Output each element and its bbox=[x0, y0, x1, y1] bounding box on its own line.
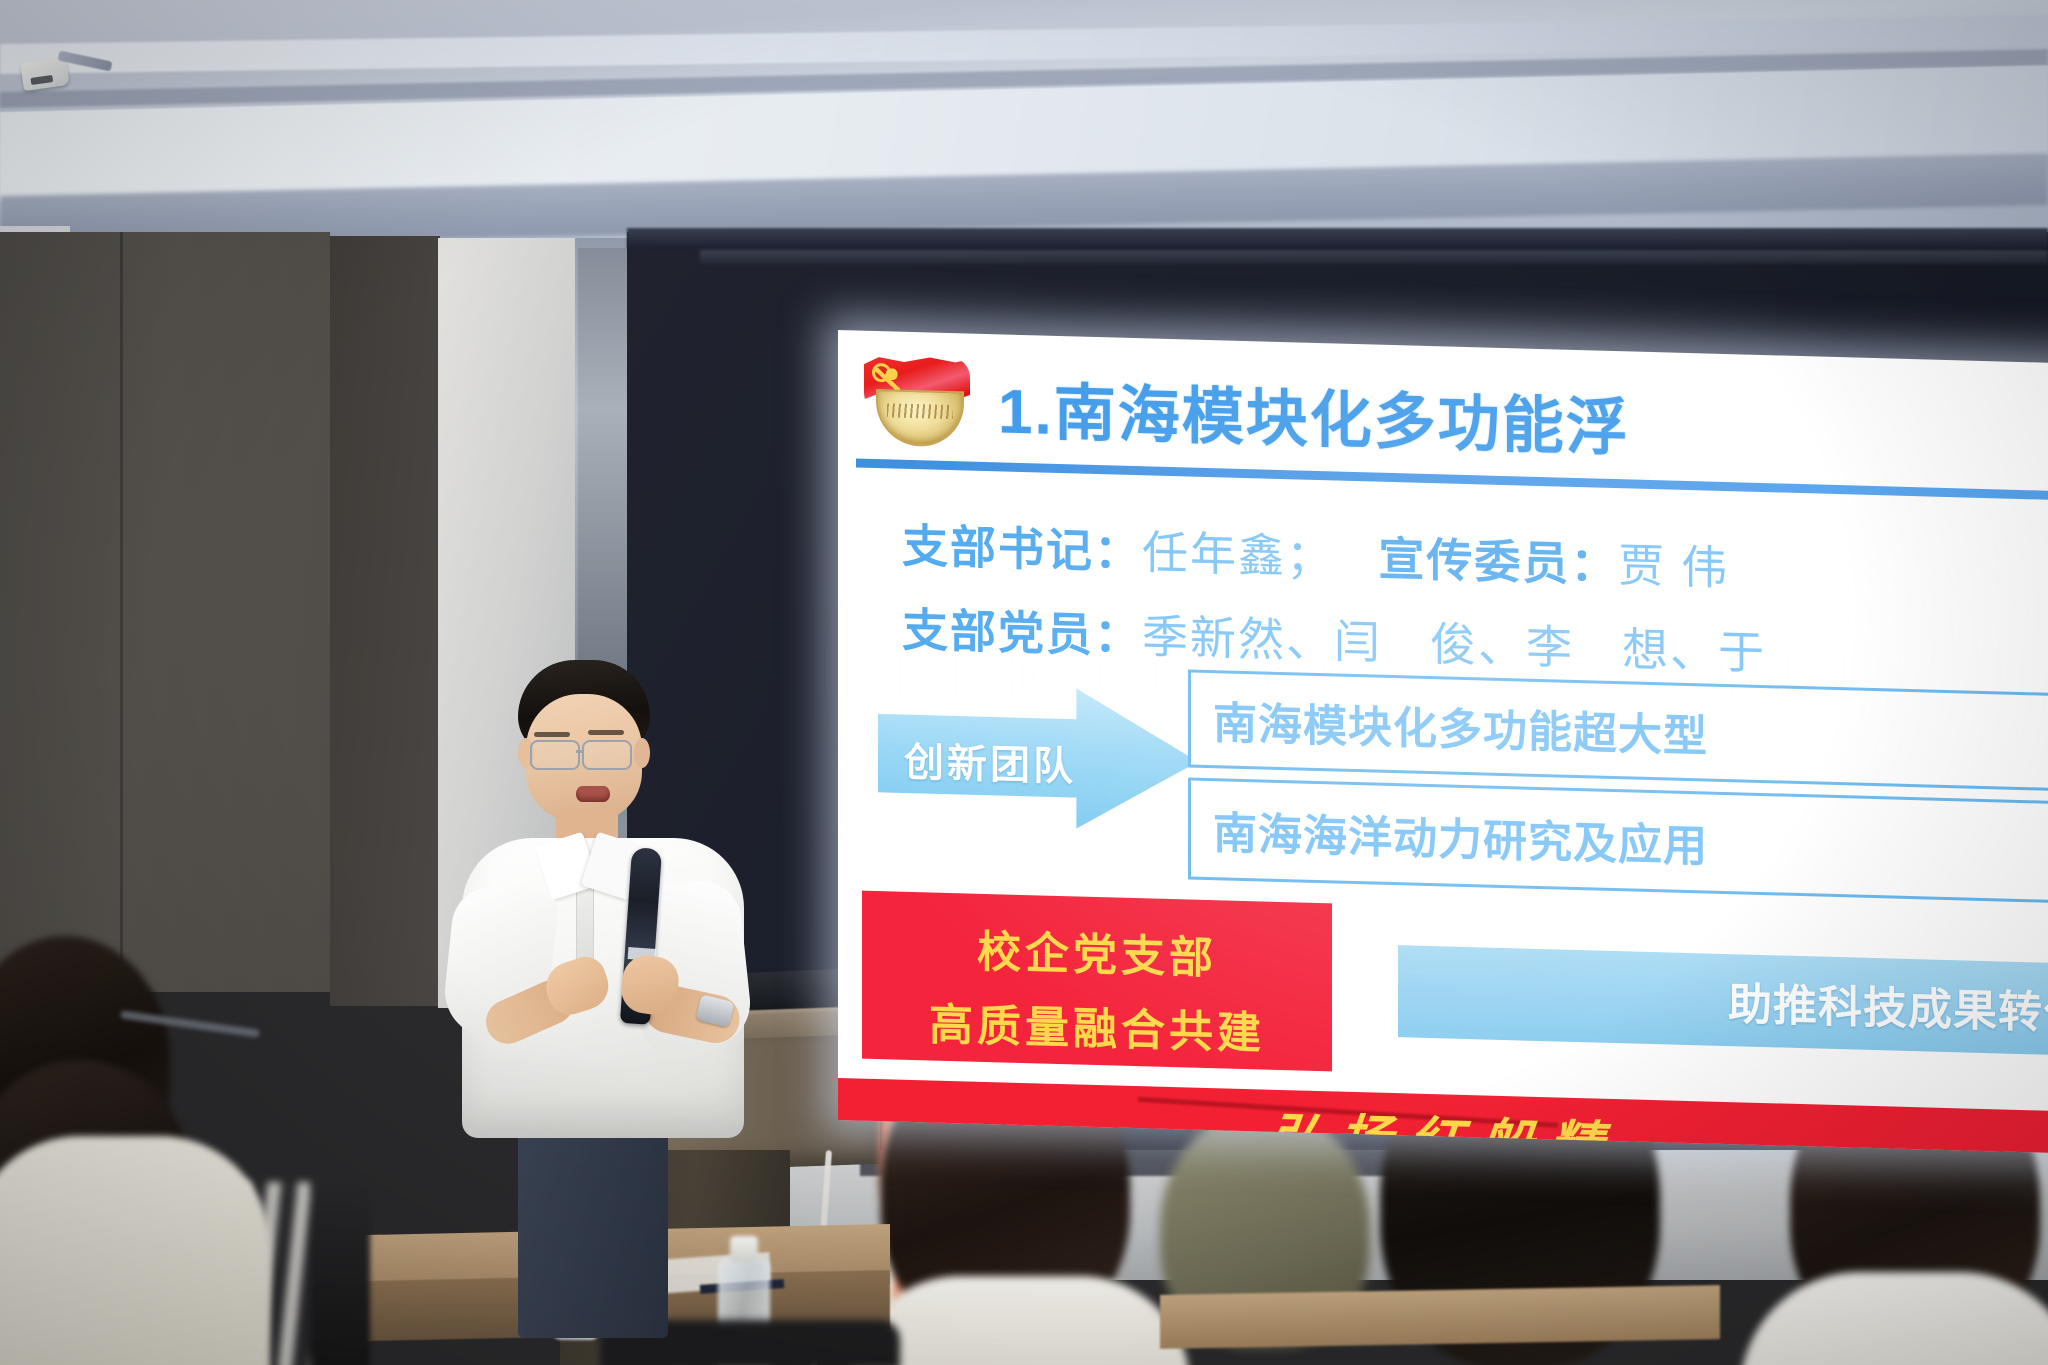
innovation-team-arrow: 创新团队 bbox=[878, 683, 1198, 832]
red-block-line-2: 高质量融合共建 bbox=[862, 987, 1332, 1064]
speaker-glasses-right-lens bbox=[582, 740, 632, 770]
speaker-glasses-bridge bbox=[576, 750, 584, 753]
bottle-cap bbox=[730, 1236, 758, 1262]
speaker-eyebrow-right bbox=[588, 730, 624, 735]
speaker-trousers bbox=[518, 1118, 668, 1338]
audience-body-right bbox=[1740, 1272, 2048, 1365]
slide-title: 1.南海模块化多功能浮 bbox=[998, 360, 2048, 479]
speaker-eyebrow-left bbox=[534, 732, 570, 737]
wall-panel-seam bbox=[120, 232, 123, 992]
roster-label-secretary: 支部书记： bbox=[902, 520, 1142, 578]
speaker-presenter bbox=[430, 660, 770, 1130]
team-box-1: 南海模块化多功能超大型 bbox=[1188, 669, 2048, 792]
wall-top-edge bbox=[627, 228, 2048, 248]
audience-body-front-left bbox=[0, 1136, 270, 1365]
slide-roster-line-1: 支部书记：任年鑫； 宣传委员：贾 伟 bbox=[902, 510, 1729, 598]
photo-scene: 1.南海模块化多功能浮 支部书记：任年鑫； 宣传委员：贾 伟 支部党员：季新然、… bbox=[0, 0, 2048, 1365]
roster-value-members: 季新然、闫 俊、李 想、于 bbox=[1142, 610, 1766, 679]
wall-wood-panel-mid bbox=[330, 236, 440, 1006]
roster-value-secretary: 任年鑫； bbox=[1142, 526, 1334, 583]
slide-roster-line-2: 支部党员：季新然、闫 俊、李 想、于 bbox=[902, 594, 1766, 683]
blue-highlight-block: 助推科技成果转化 bbox=[1398, 945, 2048, 1056]
roster-label-members: 支部党员： bbox=[902, 604, 1142, 662]
slide-content: 1.南海模块化多功能浮 支部书记：任年鑫； 宣传委员：贾 伟 支部党员：季新然、… bbox=[838, 330, 2048, 1154]
red-highlight-block: 校企党支部 高质量融合共建 bbox=[862, 891, 1332, 1072]
blue-block-text: 助推科技成果转化 bbox=[1728, 968, 2048, 1042]
wall-wood-panel-left bbox=[0, 232, 330, 992]
team-box-1-text: 南海模块化多功能超大型 bbox=[1213, 687, 1708, 764]
audience-table-right bbox=[1160, 1285, 1720, 1349]
arrow-label: 创新团队 bbox=[904, 730, 1076, 793]
team-box-2-text: 南海海洋动力研究及应用 bbox=[1213, 797, 1708, 874]
speaker-mouth bbox=[576, 786, 610, 802]
cpc-party-flag-emblem-icon bbox=[860, 351, 980, 450]
screen-bezel-top bbox=[700, 250, 2048, 264]
roster-label-publicity: 宣传委员： bbox=[1378, 533, 1618, 591]
party-medal-icon bbox=[876, 389, 964, 447]
speaker-ear-right bbox=[634, 738, 650, 768]
team-box-2: 南海海洋动力研究及应用 bbox=[1188, 777, 2048, 904]
red-block-line-1: 校企党支部 bbox=[862, 913, 1332, 990]
projection-screen: 1.南海模块化多功能浮 支部书记：任年鑫； 宣传委员：贾 伟 支部党员：季新然、… bbox=[838, 330, 2048, 1154]
speaker-glasses-left-lens bbox=[530, 740, 580, 770]
roster-value-publicity: 贾 伟 bbox=[1618, 539, 1729, 594]
